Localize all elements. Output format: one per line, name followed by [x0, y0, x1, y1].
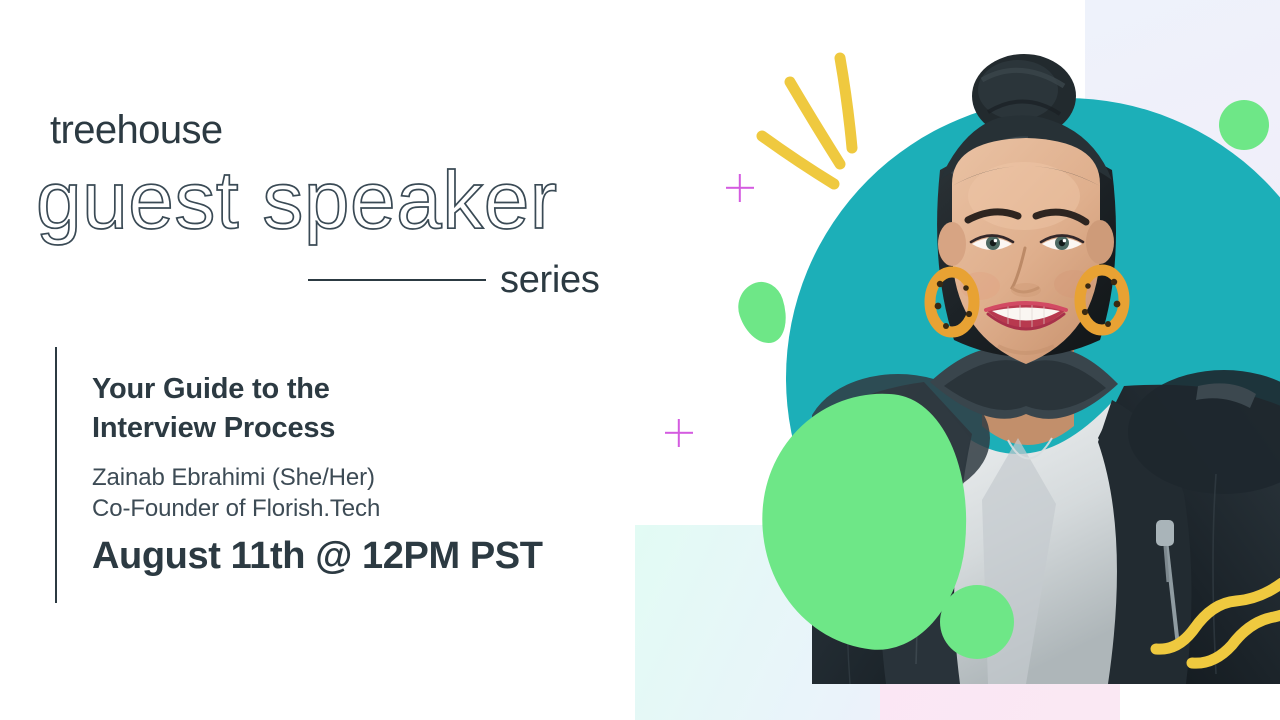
yellow-sparkle-strokes	[740, 30, 920, 210]
magenta-plus-upper	[726, 174, 754, 202]
speaker-role: Co-Founder of Florish.Tech	[92, 493, 380, 525]
series-label: series	[500, 261, 600, 299]
vertical-accent-rule	[55, 347, 57, 603]
green-circle-bottom	[940, 585, 1014, 659]
session-title: Your Guide to the Interview Process	[92, 370, 512, 448]
speaker-name: Zainab Ebrahimi (She/Her)	[92, 462, 375, 494]
text-column: treehouse guest speaker series Your Guid…	[0, 0, 660, 720]
brand-wordmark: treehouse	[50, 110, 223, 150]
session-title-line-1: Your Guide to the	[92, 370, 512, 409]
yellow-wave-strokes	[1150, 565, 1280, 685]
series-divider-rule	[308, 279, 486, 281]
session-title-line-2: Interview Process	[92, 409, 512, 448]
session-datetime: August 11th @ 12PM PST	[92, 534, 543, 580]
headline-outline: guest speaker	[36, 160, 558, 242]
magenta-plus-lower	[665, 419, 693, 447]
series-row: series	[308, 258, 624, 302]
green-blob-small	[732, 276, 795, 349]
slide-canvas: treehouse guest speaker series Your Guid…	[0, 0, 1280, 720]
